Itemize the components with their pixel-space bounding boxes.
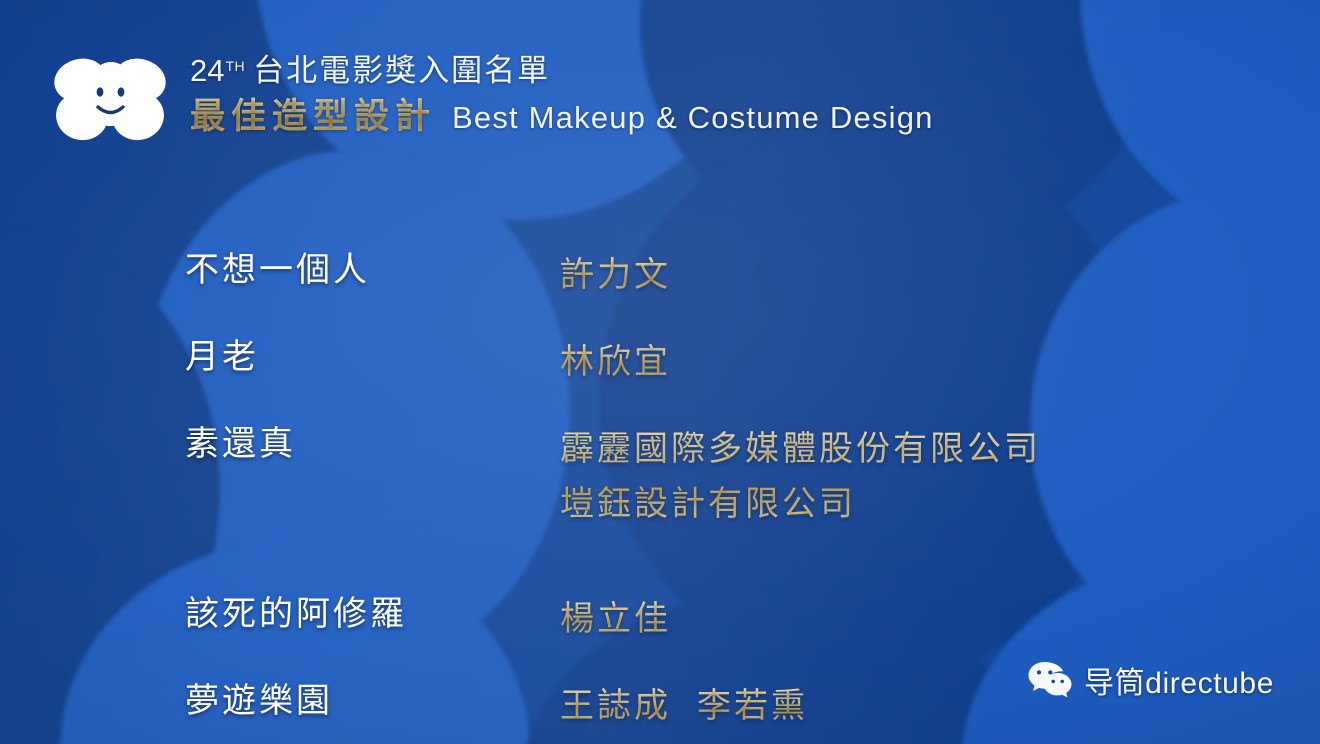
nominee-name: 楊立佳	[560, 592, 1245, 647]
presentation-slide: 24TH 台北電影獎入圍名單 最佳造型設計 Best Makeup & Cost…	[0, 0, 1320, 744]
nominee-names: 楊立佳	[560, 592, 1245, 647]
nominee-name: 王誌成	[560, 687, 671, 725]
edition-number: 24	[190, 54, 224, 88]
film-title: 不想一個人	[185, 248, 560, 293]
nominee-name: 許力文	[560, 248, 1245, 303]
nominee-row: 不想一個人許力文	[185, 248, 1245, 303]
nominee-names: 許力文	[560, 248, 1245, 303]
film-title: 月老	[185, 335, 560, 380]
wechat-icon	[1027, 660, 1073, 700]
nominee-names: 林欣宜	[560, 335, 1245, 390]
butterfly-logo-icon	[52, 50, 170, 148]
nominee-name: 林欣宜	[560, 335, 1245, 390]
nominee-name: 霹靂國際多媒體股份有限公司	[560, 422, 1245, 477]
film-title: 夢遊樂園	[185, 679, 560, 724]
nominee-row: 該死的阿修羅楊立佳	[185, 592, 1245, 647]
award-category-line: 最佳造型設計 Best Makeup & Costume Design	[190, 97, 934, 136]
slide-header: 24TH 台北電影獎入圍名單 最佳造型設計 Best Makeup & Cost…	[52, 48, 934, 148]
watermark-label: 导筒directube	[1084, 658, 1274, 702]
film-title: 素還真	[185, 422, 560, 467]
edition-suffix: TH	[225, 59, 245, 74]
award-category-en: Best Makeup & Costume Design	[452, 101, 934, 136]
nominee-row: 素還真霹靂國際多媒體股份有限公司塏鈺設計有限公司	[185, 422, 1245, 532]
watermark: 导筒directube	[1027, 658, 1274, 702]
event-title-cn: 台北電影獎入圍名單	[253, 54, 550, 88]
nominee-row: 月老林欣宜	[185, 335, 1245, 390]
nominee-name: 李若熏	[697, 687, 808, 725]
nominee-names: 霹靂國際多媒體股份有限公司塏鈺設計有限公司	[560, 422, 1245, 532]
event-title-line: 24TH 台北電影獎入圍名單	[190, 54, 934, 88]
award-category-cn: 最佳造型設計	[190, 97, 436, 136]
film-title: 該死的阿修羅	[185, 592, 560, 637]
nominee-name: 塏鈺設計有限公司	[560, 477, 1245, 532]
